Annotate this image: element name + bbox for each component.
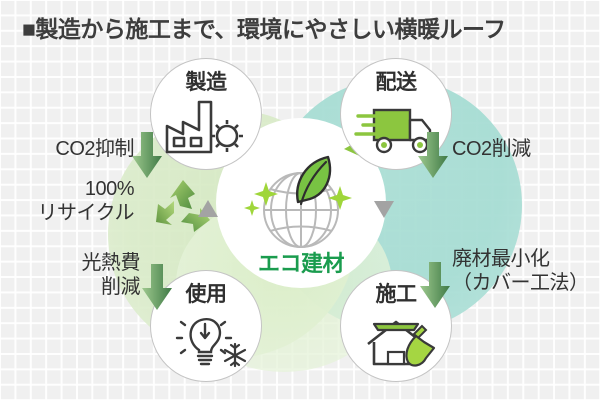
down-arrow-utility-cost-icon xyxy=(142,264,172,310)
benefit-co2-reduction-text: CO2削減 xyxy=(452,138,531,160)
benefit-utility-cost-line1: 光熱費 xyxy=(20,252,140,276)
infographic-canvas: ■製造から施工まで、環境にやさしい横暖ルーフ xyxy=(0,0,600,400)
benefit-recycle-100: 100% リサイクル xyxy=(16,178,134,225)
benefit-recycle-100-line2: リサイクル xyxy=(16,202,134,226)
benefit-co2-reduction: CO2削減 xyxy=(452,138,531,162)
benefit-co2-suppression: CO2抑制 xyxy=(30,138,134,162)
down-arrow-waste-minimize-icon xyxy=(420,262,450,308)
down-arrow-co2-suppression-icon xyxy=(132,132,162,178)
benefit-waste-minimize-line1: 廃材最小化 xyxy=(452,248,589,272)
benefit-utility-cost-line2: 削減 xyxy=(20,276,140,300)
page-title: ■製造から施工まで、環境にやさしい横暖ルーフ xyxy=(22,18,506,41)
node-delivery-label: 配送 xyxy=(340,72,452,93)
globe-leaf-sparkle-icon xyxy=(240,138,362,256)
benefit-co2-suppression-text: CO2抑制 xyxy=(55,138,134,160)
center-label: エコ建材 xyxy=(216,253,386,275)
benefit-waste-minimize-line2: （カバー工法） xyxy=(452,272,589,296)
lightbulb-snowflake-icon xyxy=(163,308,249,370)
house-wrench-icon xyxy=(354,308,440,370)
down-arrow-co2-reduction-icon xyxy=(418,132,448,178)
benefit-utility-cost: 光熱費 削減 xyxy=(20,252,140,299)
cycle-arrow-right-icon xyxy=(374,200,394,218)
cycle-arrow-left-icon xyxy=(198,200,218,218)
node-manufacturing-label: 製造 xyxy=(150,72,262,93)
factory-gear-icon xyxy=(163,96,249,158)
benefit-waste-minimize: 廃材最小化 （カバー工法） xyxy=(452,248,589,295)
benefit-recycle-100-line1: 100% xyxy=(16,178,134,202)
